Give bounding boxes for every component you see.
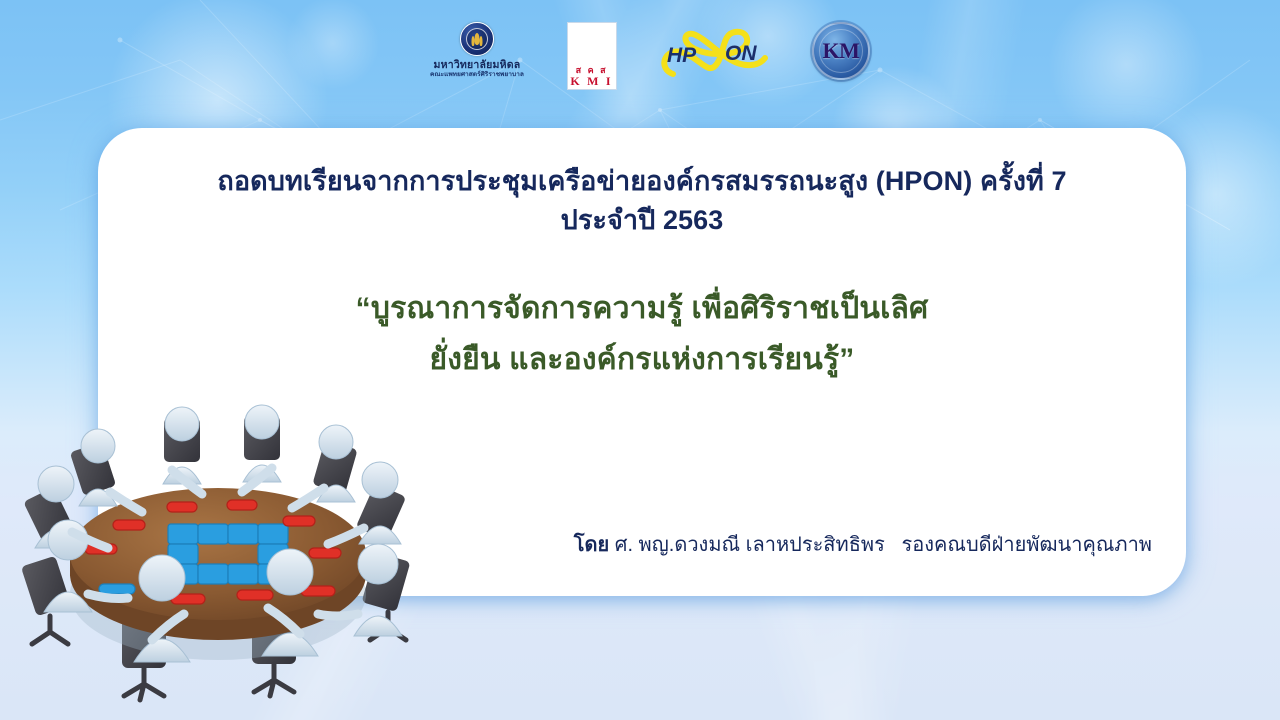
svg-text:HP: HP [667,44,697,67]
kmi-eng-abbrev: K M I [570,75,612,88]
logo-strip: มหาวิทยาลัยมหิดล คณะแพทยศาสตร์ศิริราชพยา… [430,22,870,106]
mahidol-university-name: มหาวิทยาลัยมหิดล [434,59,521,71]
mahidol-seal-icon [460,22,494,56]
km-logo: KM [812,22,870,80]
speaker-position: รองคณบดีฝ่ายพัฒนาคุณภาพ [902,534,1153,556]
kmi-logo-box: ส ค ส K M I [567,22,617,90]
speaker-name: ศ. พญ.ดวงมณี เลาหประสิทธิพร [615,534,885,556]
quote-line-1: “บูรณาการจัดการความรู้ เพื่อศิริราชเป็นเ… [98,283,1186,335]
title-slide: มหาวิทยาลัยมหิดล คณะแพทยศาสตร์ศิริราชพยา… [0,0,1280,720]
speaker-credit: โดย ศ. พญ.ดวงมณี เลาหประสิทธิพร รองคณบดี… [98,532,1166,558]
content-card: ถอดบทเรียนจากการประชุมเครือข่ายองค์กรสมร… [98,128,1186,596]
hpon-logo: HP ON [659,22,769,84]
figure [44,520,92,612]
mahidol-faculty-name: คณะแพทยศาสตร์ศิริราชพยาบาล [430,71,524,78]
km-circle-icon: KM [812,22,870,80]
km-logo-text: KM [823,38,860,64]
kmi-logo: ส ค ส K M I [567,22,617,90]
quote-block: “บูรณาการจัดการความรู้ เพื่อศิริราชเป็นเ… [98,283,1186,386]
speaker-prefix: โดย [574,534,609,556]
title-line-2: ประจำปี 2563 [132,201,1152,240]
title-block: ถอดบทเรียนจากการประชุมเครือข่ายองค์กรสมร… [98,128,1186,241]
title-line-1: ถอดบทเรียนจากการประชุมเครือข่ายองค์กรสมร… [132,162,1152,201]
svg-text:ON: ON [725,42,757,65]
mahidol-logo: มหาวิทยาลัยมหิดล คณะแพทยศาสตร์ศิริราชพยา… [430,22,524,79]
kmi-ring-icon [573,27,611,65]
quote-line-2: ยั่งยืน และองค์กรแห่งการเรียนรู้” [98,334,1186,386]
hpon-logo-svg: HP ON [659,22,769,84]
figure [35,466,77,548]
